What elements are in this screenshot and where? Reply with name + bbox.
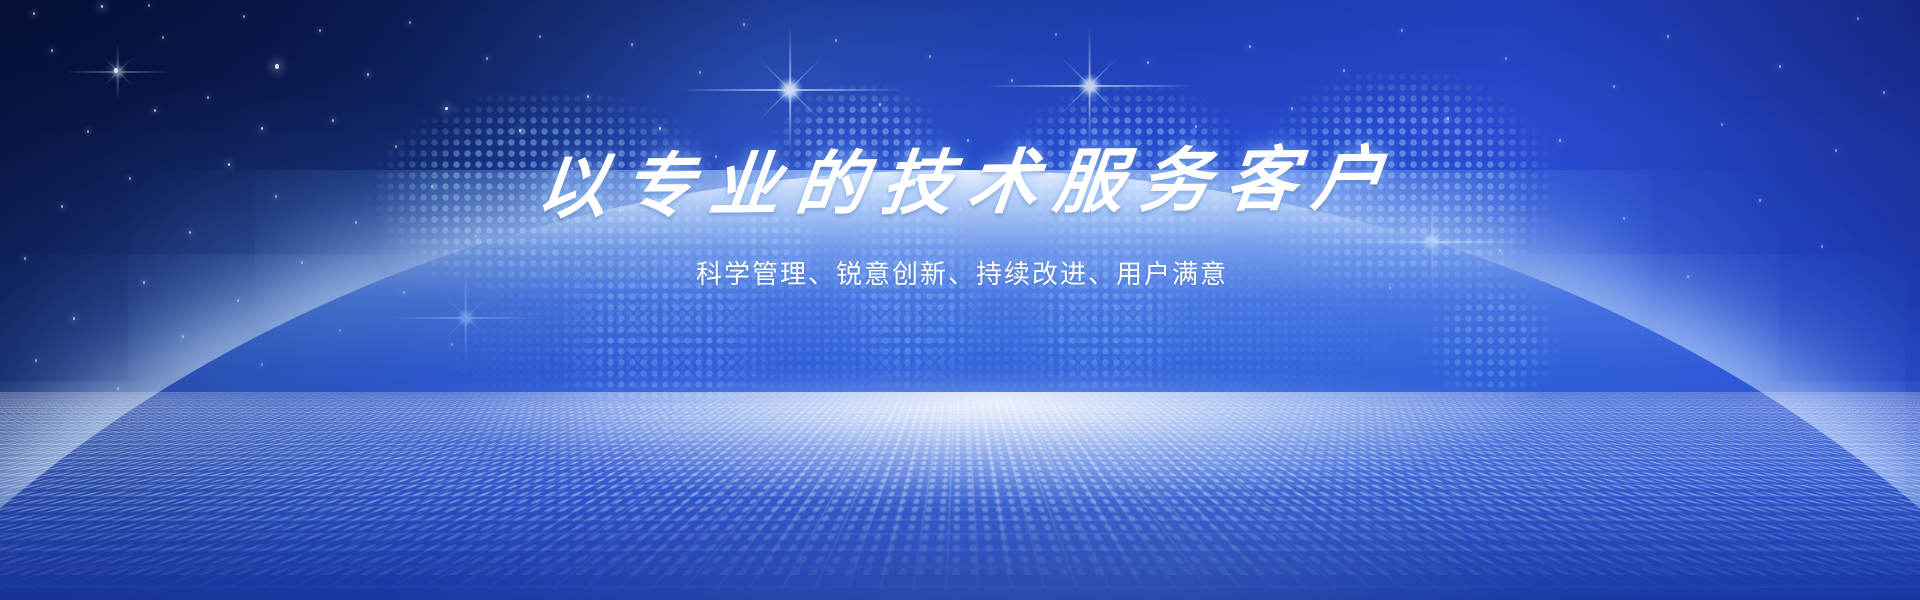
- city-bottom-shade: [0, 470, 1920, 600]
- star-dot: [445, 107, 448, 111]
- star-dot: [929, 55, 931, 58]
- star-dot: [1249, 45, 1251, 48]
- star-dot: [743, 23, 745, 26]
- star-dot: [835, 39, 837, 42]
- star-dot: [1505, 57, 1507, 60]
- star-dot: [409, 21, 411, 24]
- star-dot: [367, 73, 370, 76]
- star-dot: [519, 129, 522, 132]
- hero-banner: 以专业的技术服务客户 科学管理、锐意创新、持续改进、用户满意: [0, 0, 1920, 600]
- star-dot: [1559, 139, 1561, 142]
- star-dot: [101, 5, 104, 9]
- star-dot: [154, 109, 156, 112]
- star-dot: [1055, 33, 1057, 36]
- star-dot: [51, 49, 53, 52]
- star-dot: [631, 43, 633, 46]
- star-dot: [114, 68, 117, 72]
- star-dot: [275, 64, 279, 69]
- star-dot: [659, 127, 662, 131]
- star-dot: [1721, 123, 1723, 126]
- star-dot: [699, 71, 701, 74]
- star-dot: [1011, 79, 1013, 82]
- city-grid: [0, 392, 1920, 600]
- star-dot: [1291, 107, 1293, 110]
- star-dot: [1667, 35, 1669, 38]
- star-dot: [1343, 69, 1345, 72]
- star-dot: [486, 57, 488, 60]
- star-dot: [87, 130, 89, 133]
- star-dot: [33, 12, 35, 15]
- star-dot: [587, 95, 589, 98]
- star-dot: [1779, 65, 1781, 68]
- star-dot: [967, 139, 969, 142]
- star-dot: [1857, 17, 1859, 20]
- star-dot: [1147, 61, 1149, 64]
- banner-headline: 以专业的技术服务客户: [0, 140, 1920, 230]
- star-dot: [539, 35, 541, 38]
- star-dot: [1447, 117, 1450, 120]
- star-dot: [1883, 91, 1885, 94]
- star-dot: [243, 15, 245, 18]
- banner-text-block: 以专业的技术服务客户 科学管理、锐意创新、持续改进、用户满意: [0, 150, 1920, 291]
- star-dot: [395, 145, 397, 148]
- star-dot: [162, 36, 164, 39]
- star-dot: [319, 29, 321, 32]
- star-dot: [879, 103, 881, 106]
- star-dot: [148, 4, 150, 7]
- star-dot: [207, 96, 209, 99]
- star-dot: [1195, 125, 1197, 128]
- star-dot: [261, 127, 264, 130]
- star-dot: [332, 119, 334, 122]
- star-dot: [1613, 85, 1615, 88]
- star-dot: [1401, 29, 1403, 32]
- banner-subheadline: 科学管理、锐意创新、持续改进、用户满意: [0, 220, 1920, 291]
